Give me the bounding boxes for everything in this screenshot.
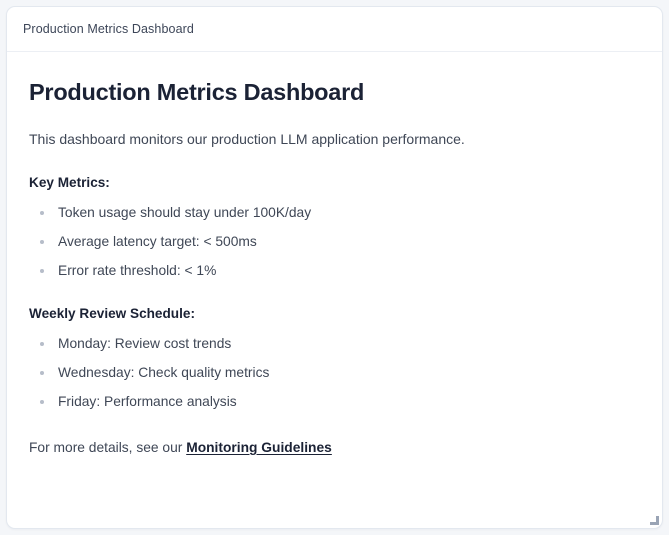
document-content: Production Metrics Dashboard This dashbo… [7,52,662,457]
bullet-icon [40,342,44,346]
bullet-icon [40,371,44,375]
list-item-label: Token usage should stay under 100K/day [58,205,311,220]
list-item-label: Wednesday: Check quality metrics [58,365,269,380]
bullet-icon [40,400,44,404]
bullet-icon [40,269,44,273]
document-panel: Production Metrics Dashboard Production … [6,6,663,529]
list-item: Error rate threshold: < 1% [29,262,640,280]
resize-grip-icon[interactable] [647,513,659,525]
panel-header-title: Production Metrics Dashboard [23,22,194,36]
intro-paragraph: This dashboard monitors our production L… [29,129,640,149]
list-item-label: Friday: Performance analysis [58,394,237,409]
footer-prefix-text: For more details, see our [29,440,186,455]
list-item: Average latency target: < 500ms [29,233,640,251]
key-metrics-list: Token usage should stay under 100K/day A… [29,204,640,280]
bullet-icon [40,211,44,215]
list-item: Friday: Performance analysis [29,393,640,411]
weekly-review-list: Monday: Review cost trends Wednesday: Ch… [29,335,640,411]
bullet-icon [40,240,44,244]
footer-paragraph: For more details, see our Monitoring Gui… [29,438,640,457]
list-item-label: Error rate threshold: < 1% [58,263,216,278]
panel-header: Production Metrics Dashboard [7,7,662,52]
section-heading-key-metrics: Key Metrics: [29,175,640,190]
list-item: Monday: Review cost trends [29,335,640,353]
section-heading-weekly-review-schedule: Weekly Review Schedule: [29,306,640,321]
list-item: Token usage should stay under 100K/day [29,204,640,222]
list-item: Wednesday: Check quality metrics [29,364,640,382]
list-item-label: Average latency target: < 500ms [58,234,257,249]
monitoring-guidelines-link[interactable]: Monitoring Guidelines [186,440,332,455]
list-item-label: Monday: Review cost trends [58,336,231,351]
page-title: Production Metrics Dashboard [29,78,640,106]
